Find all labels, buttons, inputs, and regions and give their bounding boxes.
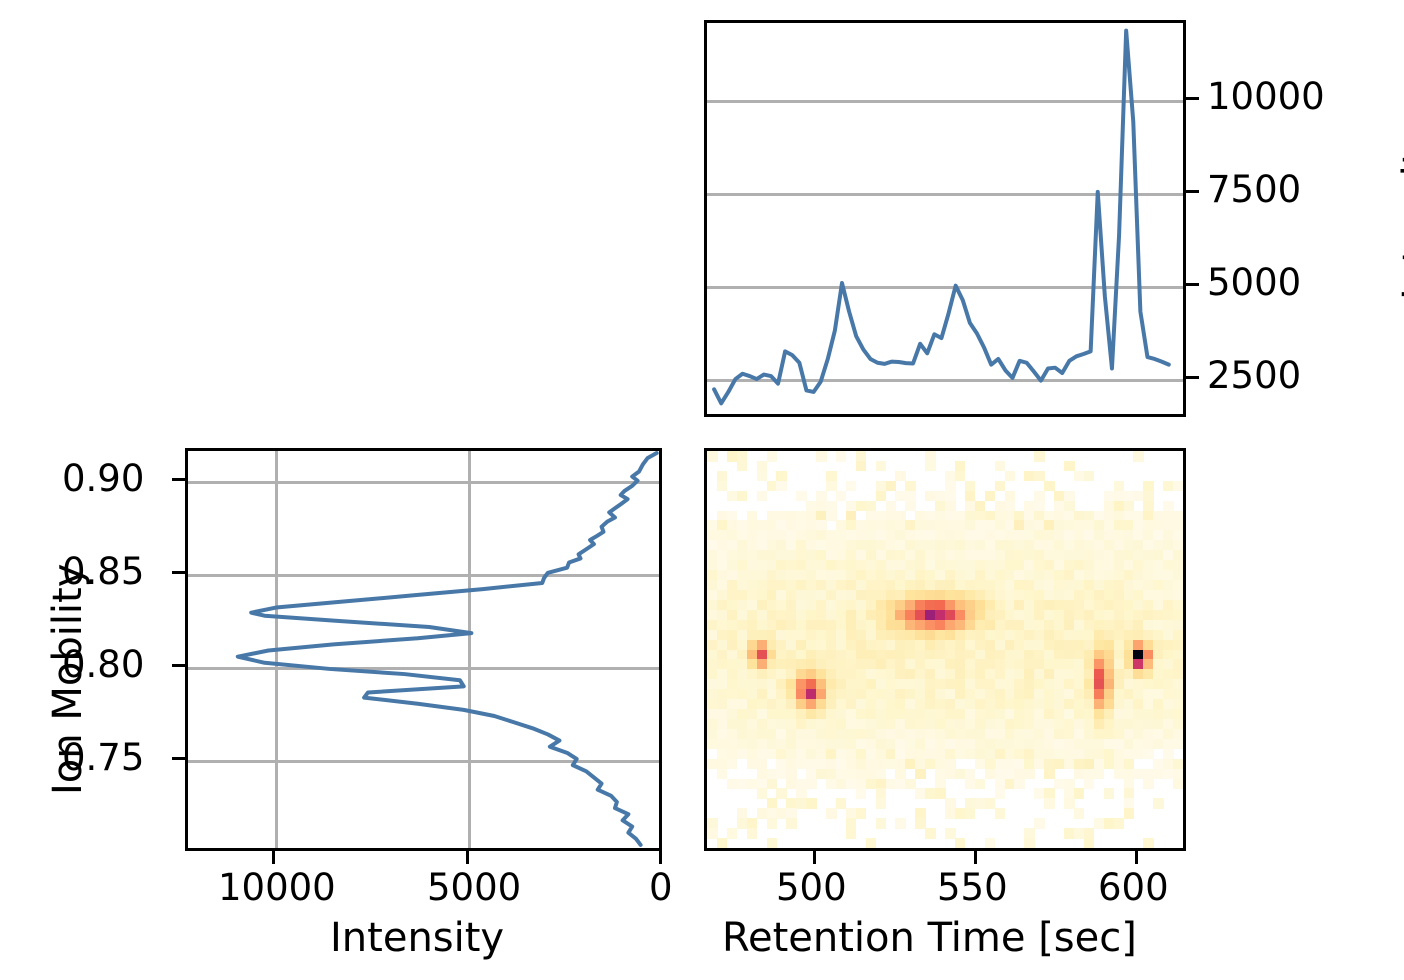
heatmap-xtick-label-500: 500 — [776, 869, 847, 906]
heatmap-cell — [975, 779, 986, 790]
heatmap-cell — [905, 491, 916, 502]
heatmap-cell — [757, 788, 768, 799]
heatmap-cell — [866, 838, 877, 849]
chromatogram-line — [707, 23, 1183, 414]
heatmap-cell — [836, 451, 847, 462]
heatmap-cell — [727, 759, 738, 770]
heatmap-cell — [707, 451, 718, 462]
heatmap-cell — [965, 808, 976, 819]
heatmap-cell — [767, 838, 778, 849]
heatmap-cell — [1034, 818, 1045, 829]
heatmap-cell — [895, 818, 906, 829]
heatmap-cell — [1173, 689, 1184, 700]
heatmap-cell — [925, 828, 936, 839]
heatmap-cell — [1143, 779, 1154, 790]
heatmap-cell — [1084, 838, 1095, 849]
left-xtick-label-0: 0 — [649, 869, 673, 906]
top-ytick-label-5000: 5000 — [1207, 264, 1301, 301]
heatmap-cell — [856, 788, 867, 799]
heatmap-cell — [925, 461, 936, 472]
heatmap-cell — [915, 769, 926, 780]
heatmap-xtick-label-600: 600 — [1098, 869, 1169, 906]
heatmap-cell — [796, 491, 807, 502]
heatmap-cell — [826, 808, 837, 819]
heatmap-cell — [806, 779, 817, 790]
heatmap-cell — [747, 828, 758, 839]
left-xtick-label-10000: 10000 — [218, 869, 336, 906]
heatmap-cell — [1153, 798, 1164, 809]
left-xlabel-intensity: Intensity — [330, 918, 504, 958]
left-ylabel-ion-mobility: Ion Mobility — [48, 564, 88, 795]
heatmap-cell — [776, 788, 787, 799]
heatmap-panel — [704, 448, 1186, 851]
top-ytick-label-7500: 7500 — [1207, 171, 1301, 208]
heatmap-cell — [1124, 788, 1135, 799]
top-ytick-label-10000: 10000 — [1207, 78, 1325, 115]
heatmap-cell — [1014, 779, 1025, 790]
left-mobility-panel — [185, 448, 662, 851]
top-ytick-label-2500: 2500 — [1207, 357, 1301, 394]
heatmap-cell — [1173, 530, 1184, 541]
heatmap-grid — [707, 451, 1183, 848]
heatmap-cell — [1034, 491, 1045, 502]
heatmap-cell — [876, 461, 887, 472]
heatmap-cell — [1173, 779, 1184, 790]
joint-plot-figure: 10000 7500 5000 2500 Intensity 0.90 0.85… — [0, 0, 1404, 980]
heatmap-cell — [1094, 769, 1105, 780]
heatmap-cell — [1133, 451, 1144, 462]
heatmap-cell — [856, 461, 867, 472]
heatmap-cell — [1173, 739, 1184, 750]
heatmap-cell — [1064, 491, 1075, 502]
heatmap-cell — [737, 461, 748, 472]
heatmap-cell — [1024, 769, 1035, 780]
heatmap-cell — [816, 451, 827, 462]
heatmap-cell — [1143, 838, 1154, 849]
heatmap-cell — [767, 818, 778, 829]
left-ytick-label-090: 0.90 — [62, 460, 144, 497]
heatmap-cell — [767, 451, 778, 462]
heatmap-cell — [1084, 471, 1095, 482]
heatmap-cell — [757, 491, 768, 502]
heatmap-cell — [995, 788, 1006, 799]
heatmap-cell — [816, 491, 827, 502]
heatmap-cell — [856, 808, 867, 819]
heatmap-cell — [806, 798, 817, 809]
heatmap-cell — [727, 828, 738, 839]
mobility-profile-line — [188, 451, 659, 848]
heatmap-cell — [985, 838, 996, 849]
heatmap-cell — [876, 788, 887, 799]
heatmap-cell — [945, 491, 956, 502]
heatmap-cell — [846, 828, 857, 839]
heatmap-cell — [1044, 788, 1055, 799]
heatmap-cell — [1084, 828, 1095, 839]
heatmap-cell — [707, 828, 718, 839]
heatmap-cell — [786, 818, 797, 829]
heatmap-cell — [876, 798, 887, 809]
heatmap-cell — [876, 818, 887, 829]
heatmap-cell — [995, 808, 1006, 819]
heatmap-cell — [1005, 471, 1016, 482]
heatmap-cell — [1114, 818, 1125, 829]
heatmap-cell — [776, 481, 787, 492]
heatmap-cell — [876, 491, 887, 502]
heatmap-cell — [737, 491, 748, 502]
top-ylabel-intensity: Intensity — [1398, 126, 1404, 300]
heatmap-cell — [955, 838, 966, 849]
heatmap-cell — [1024, 828, 1035, 839]
heatmap-cell — [1143, 491, 1154, 502]
heatmap-cell — [985, 491, 996, 502]
heatmap-cell — [965, 491, 976, 502]
heatmap-cell — [1124, 808, 1135, 819]
heatmap-cell — [1005, 491, 1016, 502]
heatmap-cell — [1074, 788, 1085, 799]
heatmap-cell — [717, 838, 728, 849]
heatmap-cell — [796, 788, 807, 799]
heatmap-cell — [1024, 838, 1035, 849]
heatmap-xlabel-retention-time: Retention Time [sec] — [722, 918, 1137, 958]
heatmap-cell — [1104, 788, 1115, 799]
heatmap-cell — [935, 788, 946, 799]
heatmap-cell — [1173, 729, 1184, 740]
left-xtick-label-5000: 5000 — [427, 869, 521, 906]
heatmap-cell — [1084, 779, 1095, 790]
heatmap-cell — [836, 491, 847, 502]
top-chromatogram-panel — [704, 20, 1186, 417]
heatmap-xtick-label-550: 550 — [937, 869, 1008, 906]
heatmap-cell — [1074, 808, 1085, 819]
heatmap-cell — [1173, 481, 1184, 492]
heatmap-cell — [1173, 630, 1184, 641]
heatmap-cell — [945, 828, 956, 839]
heatmap-cell — [1034, 451, 1045, 462]
heatmap-cell — [1173, 590, 1184, 601]
heatmap-cell — [1044, 798, 1055, 809]
heatmap-cell — [846, 481, 857, 492]
